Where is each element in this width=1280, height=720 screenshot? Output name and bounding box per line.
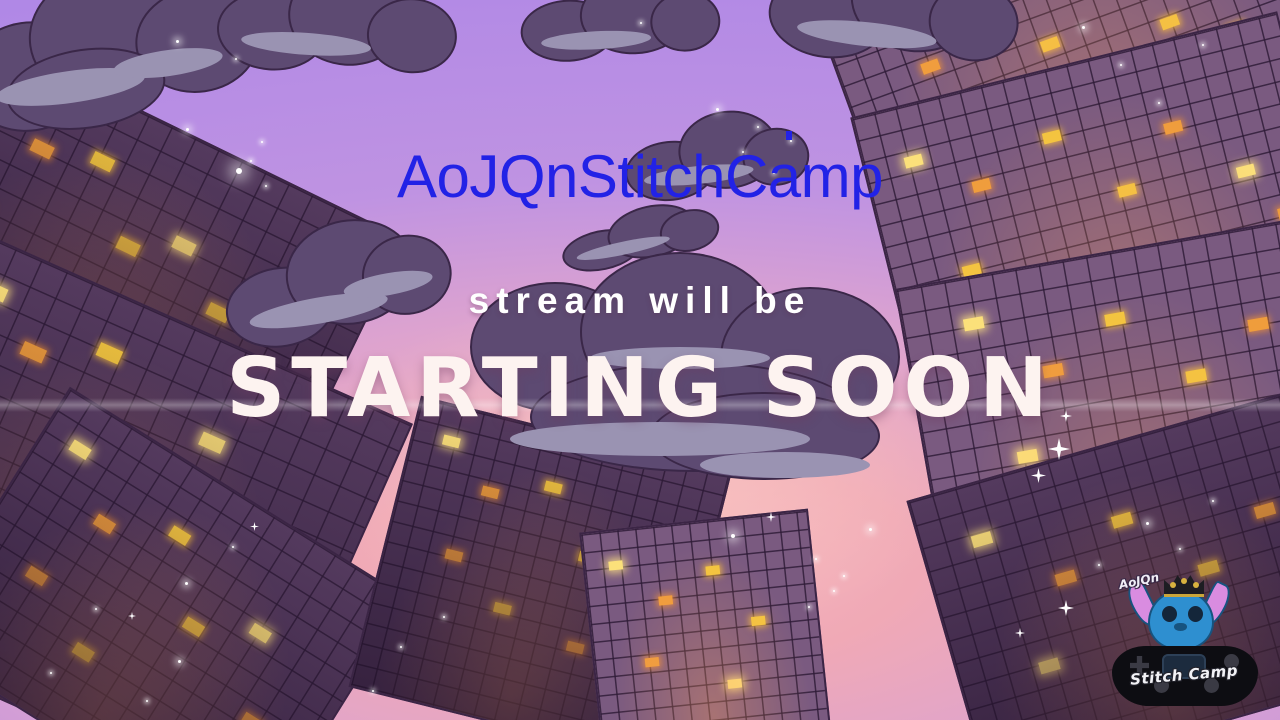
stitch-eye-left-icon [1162, 606, 1177, 622]
text-caret [786, 131, 792, 140]
crown-jewel-icon [1170, 582, 1176, 588]
channel-title: AoJQnStitchCamp [0, 147, 1280, 207]
subtitle-text: stream will be [0, 282, 1280, 319]
stream-overlay-scene: AoJQnStitchCamp stream will be STARTING … [0, 0, 1280, 720]
headline-starting-soon: STARTING SOON [0, 348, 1280, 430]
stitch-eye-right-icon [1188, 606, 1203, 622]
crown-jewel-icon [1193, 582, 1199, 588]
stitch-nose-icon [1174, 623, 1187, 631]
stitch-head-icon [1148, 590, 1214, 650]
channel-logo: AoJQn Stitch Camp [1108, 566, 1260, 716]
text-overlay: AoJQnStitchCamp stream will be STARTING … [0, 0, 1280, 720]
crown-jewel-icon [1181, 578, 1187, 584]
